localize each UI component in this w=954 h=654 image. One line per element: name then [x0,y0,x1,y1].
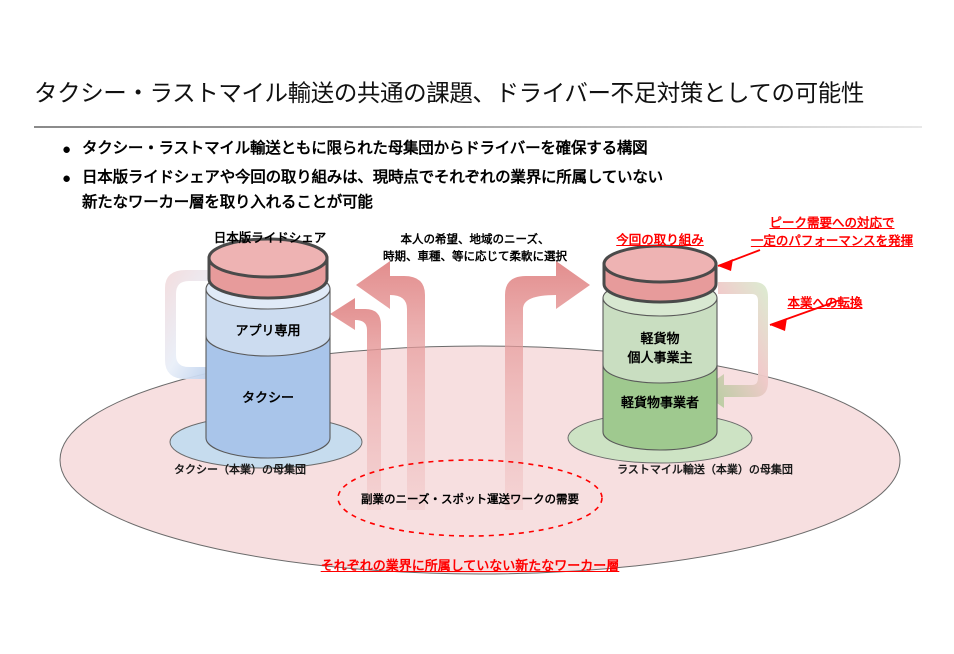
list-item: ● タクシー・ラストマイル輸送ともに限られた母集団からドライバーを確保する構図 [62,136,922,163]
bullet-marker-icon: ● [62,136,82,163]
left-cylinder-cap-label: 日本版ライドシェア [200,230,340,246]
right-segment-sole-proprietor-label: 軽貨物 個人事業主 [600,330,720,368]
diagram-svg [0,210,954,654]
left-cylinder [206,239,330,458]
right-cylinder-cap-label: 今回の取り組み [594,232,726,248]
peak-demand-annotation: ピーク需要への対応で 一定のパフォーマンスを発揮 [732,214,932,250]
page-title: タクシー・ラストマイル輸送の共通の課題、ドライバー不足対策としての可能性 [34,74,864,108]
diagram-canvas: 日本版ライドシェア 今回の取り組み 本人の希望、地域のニーズ、 時期、車種、等に… [0,210,954,654]
right-base-population-label: ラストマイル輸送（本業）の母集団 [540,463,870,477]
new-worker-segment-note: それぞれの業界に所属していない新たなワーカー層 [280,558,660,575]
side-job-demand-label: 副業のニーズ・スポット運送ワークの需要 [340,493,600,508]
left-segment-app-label: アプリ専用 [208,323,328,340]
peak-demand-pointer-arrow [718,250,760,271]
right-segment-carrier-label: 軽貨物事業者 [600,395,720,412]
bullet-text: 日本版ライドシェアや今回の取り組みは、現時点でそれぞれの業界に所属していない 新… [82,165,663,215]
bullet-marker-icon: ● [62,165,82,192]
left-base-population-label: タクシー（本業）の母集団 [140,463,340,477]
right-cap-top [604,246,716,282]
flexible-selection-note: 本人の希望、地域のニーズ、 時期、車種、等に応じて柔軟に選択 [370,232,580,265]
bullet-text: タクシー・ラストマイル輸送ともに限られた母集団からドライバーを確保する構図 [82,136,647,161]
title-divider [34,126,922,128]
bullet-list: ● タクシー・ラストマイル輸送ともに限られた母集団からドライバーを確保する構図 … [62,136,922,217]
left-segment-taxi-label: タクシー [208,390,328,407]
list-item: ● 日本版ライドシェアや今回の取り組みは、現時点でそれぞれの業界に所属していない… [62,165,922,215]
main-job-transition-annotation: 本業への転換 [770,295,880,311]
